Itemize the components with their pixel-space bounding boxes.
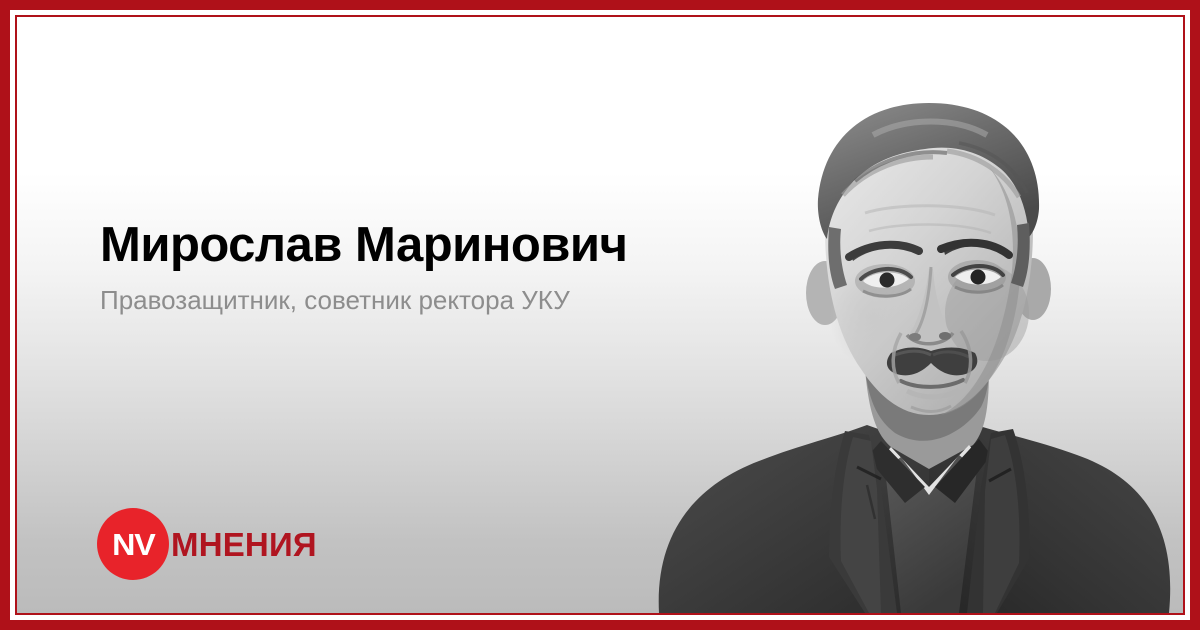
nv-badge-icon: NV (97, 508, 169, 580)
author-name: Мирослав Маринович (100, 220, 740, 272)
opinion-card: Мирослав Маринович Правозащитник, советн… (0, 0, 1200, 630)
logo-wordmark: МНЕНИЯ (171, 528, 317, 561)
author-text-block: Мирослав Маринович Правозащитник, советн… (100, 220, 740, 317)
card-canvas: Мирослав Маринович Правозащитник, советн… (17, 17, 1183, 613)
nv-badge-label: NV (112, 529, 154, 560)
author-role: Правозащитник, советник ректора УКУ (100, 284, 725, 317)
nv-opinions-logo[interactable]: NV МНЕНИЯ (97, 508, 317, 580)
